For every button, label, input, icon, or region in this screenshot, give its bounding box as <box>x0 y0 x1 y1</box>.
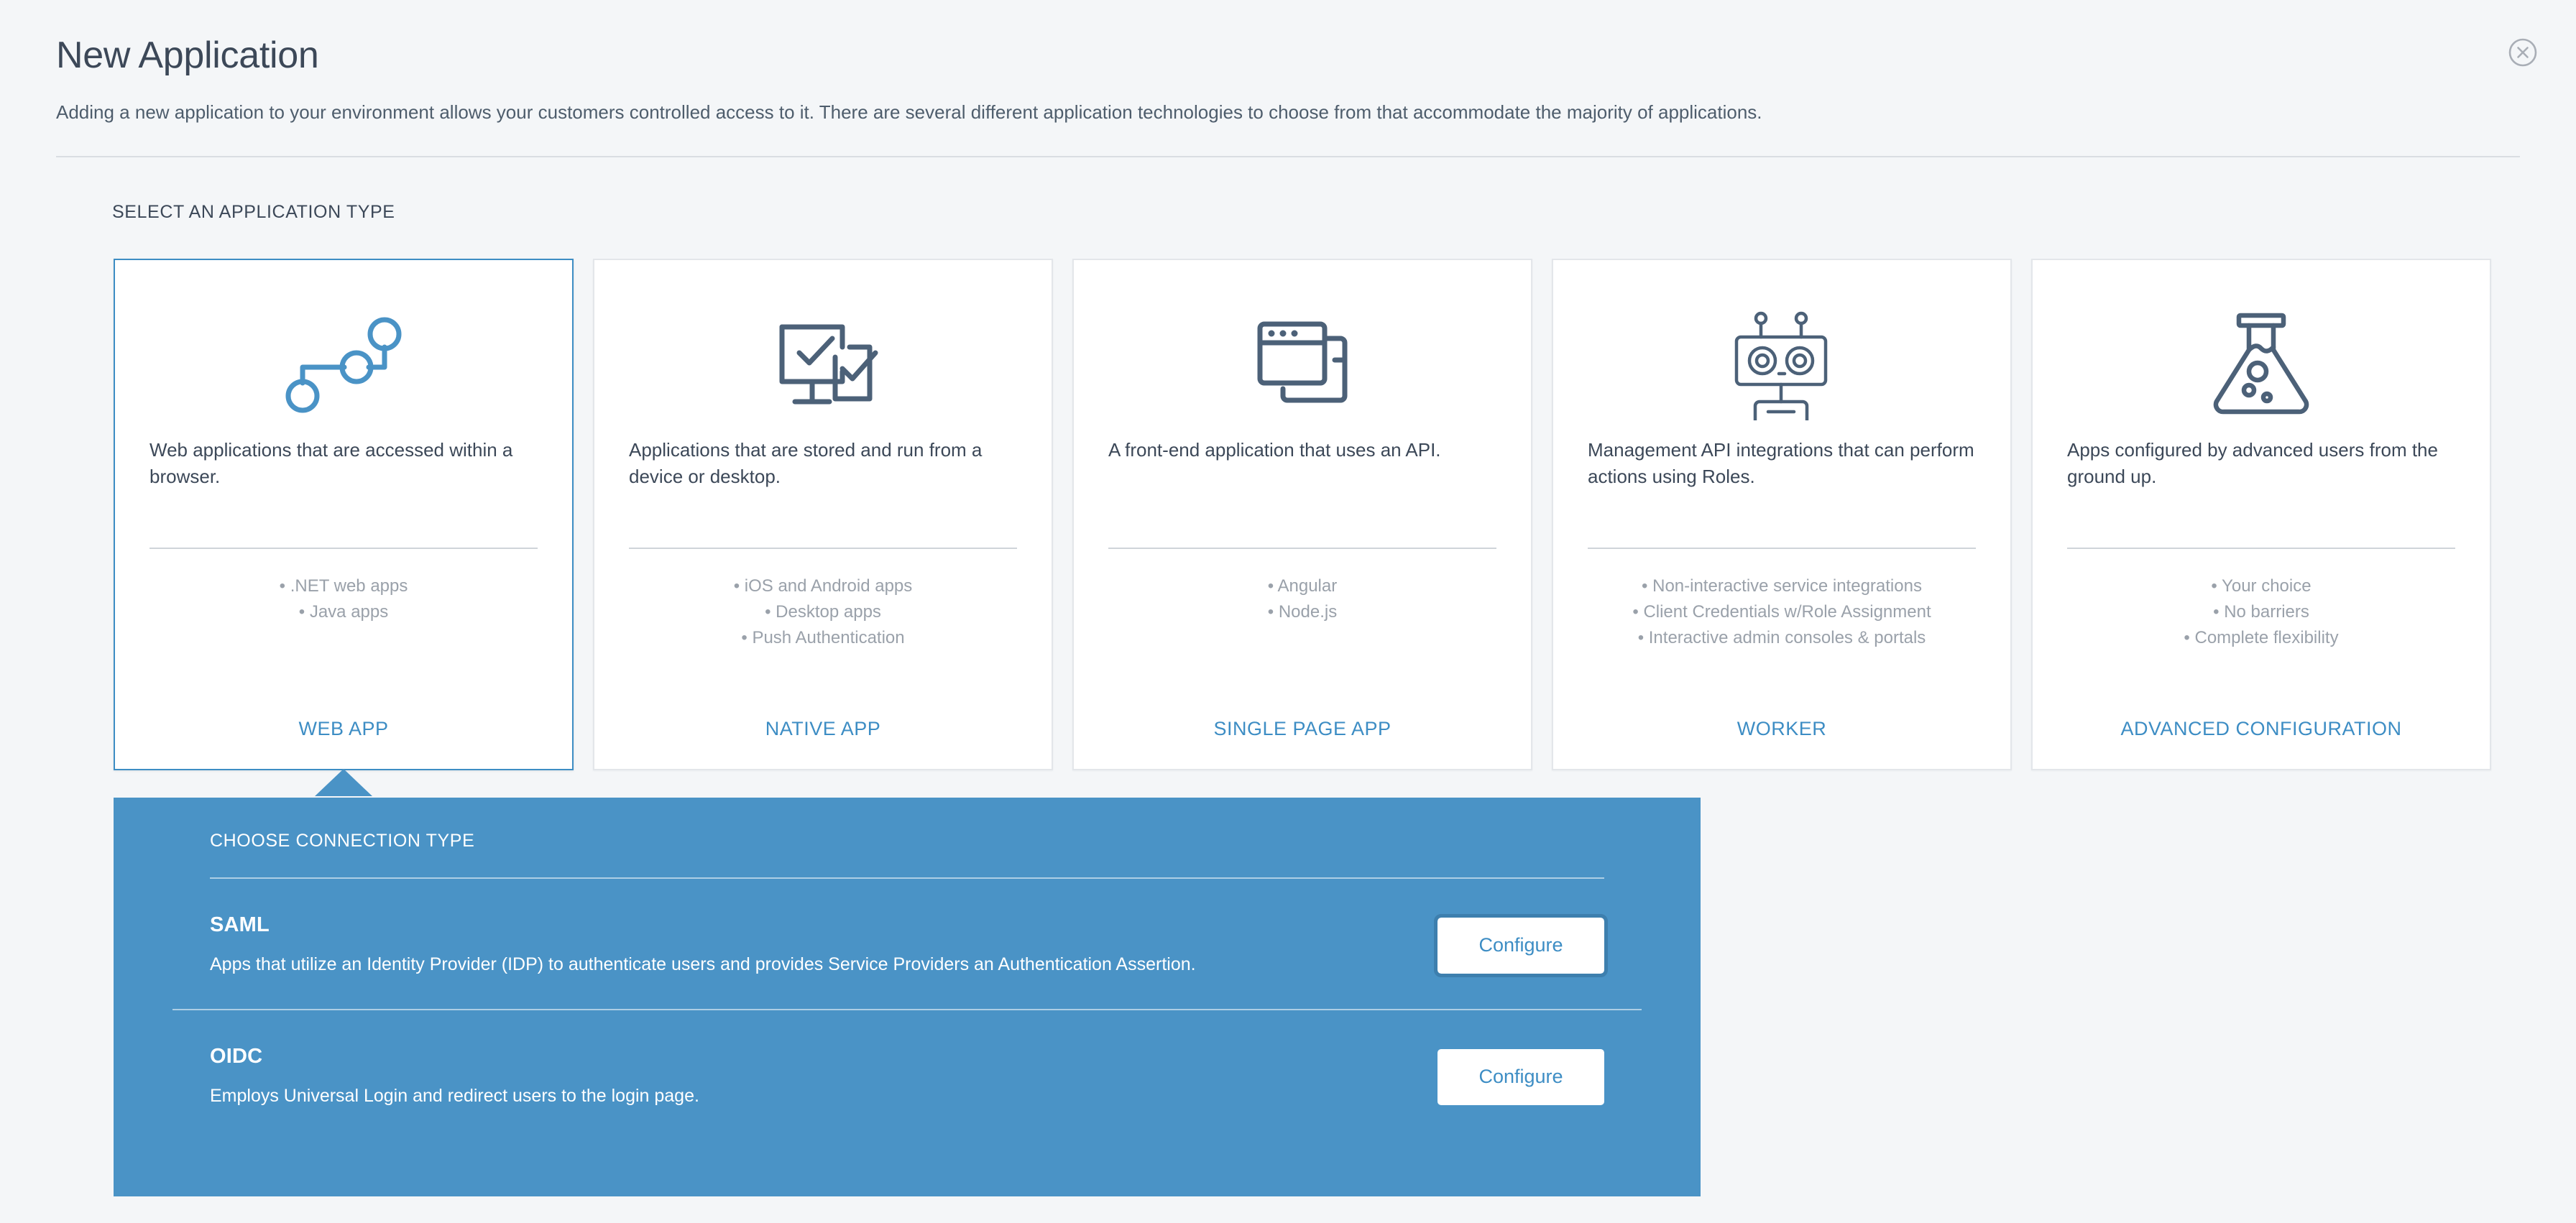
connection-row-oidc: OIDC Employs Universal Login and redirec… <box>172 1009 1642 1140</box>
app-type-cta-label[interactable]: WORKER <box>1588 718 1976 744</box>
configure-button-oidc[interactable]: Configure <box>1437 1049 1604 1105</box>
app-type-bullets: .NET web apps Java apps <box>149 573 538 708</box>
configure-button-saml[interactable]: Configure <box>1437 918 1604 974</box>
app-type-cta-label[interactable]: ADVANCED CONFIGURATION <box>2067 718 2455 744</box>
choose-connection-type-panel: CHOOSE CONNECTION TYPE SAML Apps that ut… <box>114 798 1701 1196</box>
connection-text: OIDC Employs Universal Login and redirec… <box>210 1045 1394 1109</box>
connection-description: Apps that utilize an Identity Provider (… <box>210 953 1394 977</box>
section-label: SELECT AN APPLICATION TYPE <box>112 202 2576 223</box>
connection-panel-title: CHOOSE CONNECTION TYPE <box>172 831 1642 852</box>
app-type-bullets: Your choice No barriers Complete flexibi… <box>2067 573 2455 708</box>
close-circle-icon[interactable] <box>2504 34 2541 71</box>
app-type-bullets: iOS and Android apps Desktop apps Push A… <box>629 573 1017 708</box>
list-item: Node.js <box>1108 599 1496 625</box>
list-item: Desktop apps <box>629 599 1017 625</box>
list-item: iOS and Android apps <box>629 573 1017 599</box>
app-type-bullets: Non-interactive service integrations Cli… <box>1588 573 1976 708</box>
list-item: No barriers <box>2067 599 2455 625</box>
app-type-description: Web applications that are accessed withi… <box>149 437 538 517</box>
app-type-description: Apps configured by advanced users from t… <box>2067 437 2455 517</box>
connection-name: SAML <box>210 913 1394 937</box>
app-type-card-web-app[interactable]: Web applications that are accessed withi… <box>114 259 574 770</box>
app-type-cta-label[interactable]: WEB APP <box>149 718 538 744</box>
card-divider <box>2067 548 2455 549</box>
app-type-description: Management API integrations that can per… <box>1588 437 1976 517</box>
page-header: New Application Adding a new application… <box>0 0 2576 157</box>
flask-icon <box>2067 289 2455 437</box>
app-type-description: A front-end application that uses an API… <box>1108 437 1496 517</box>
list-item: Complete flexibility <box>2067 625 2455 651</box>
list-item: Interactive admin consoles & portals <box>1588 625 1976 651</box>
network-nodes-icon <box>149 289 538 437</box>
card-divider <box>629 548 1017 549</box>
list-item: Your choice <box>2067 573 2455 599</box>
page-title: New Application <box>56 34 2520 78</box>
browser-windows-icon <box>1108 289 1496 437</box>
list-item: Java apps <box>149 599 538 625</box>
connection-text: SAML Apps that utilize an Identity Provi… <box>210 913 1394 977</box>
application-type-grid: Web applications that are accessed withi… <box>0 259 2576 770</box>
card-divider <box>1588 548 1976 549</box>
list-item: Angular <box>1108 573 1496 599</box>
list-item: Client Credentials w/Role Assignment <box>1588 599 1976 625</box>
connection-row-saml: SAML Apps that utilize an Identity Provi… <box>172 879 1642 1009</box>
card-divider <box>149 548 538 549</box>
list-item: Push Authentication <box>629 625 1017 651</box>
robot-icon <box>1588 289 1976 437</box>
app-type-description: Applications that are stored and run fro… <box>629 437 1017 517</box>
app-type-cta-label[interactable]: NATIVE APP <box>629 718 1017 744</box>
connection-description: Employs Universal Login and redirect use… <box>210 1084 1394 1109</box>
selected-card-pointer <box>315 769 372 796</box>
app-type-card-single-page-app[interactable]: A front-end application that uses an API… <box>1072 259 1532 770</box>
app-type-bullets: Angular Node.js <box>1108 573 1496 708</box>
app-type-card-worker[interactable]: Management API integrations that can per… <box>1552 259 2012 770</box>
app-type-card-advanced-configuration[interactable]: Apps configured by advanced users from t… <box>2031 259 2491 770</box>
list-item: .NET web apps <box>149 573 538 599</box>
header-divider <box>56 156 2520 157</box>
list-item: Non-interactive service integrations <box>1588 573 1976 599</box>
desktop-and-mobile-check-icon <box>629 289 1017 437</box>
page-subtitle: Adding a new application to your environ… <box>56 99 2520 126</box>
app-type-cta-label[interactable]: SINGLE PAGE APP <box>1108 718 1496 744</box>
connection-name: OIDC <box>210 1045 1394 1069</box>
app-type-card-native-app[interactable]: Applications that are stored and run fro… <box>593 259 1053 770</box>
new-application-page: New Application Adding a new application… <box>0 0 2576 1223</box>
card-divider <box>1108 548 1496 549</box>
